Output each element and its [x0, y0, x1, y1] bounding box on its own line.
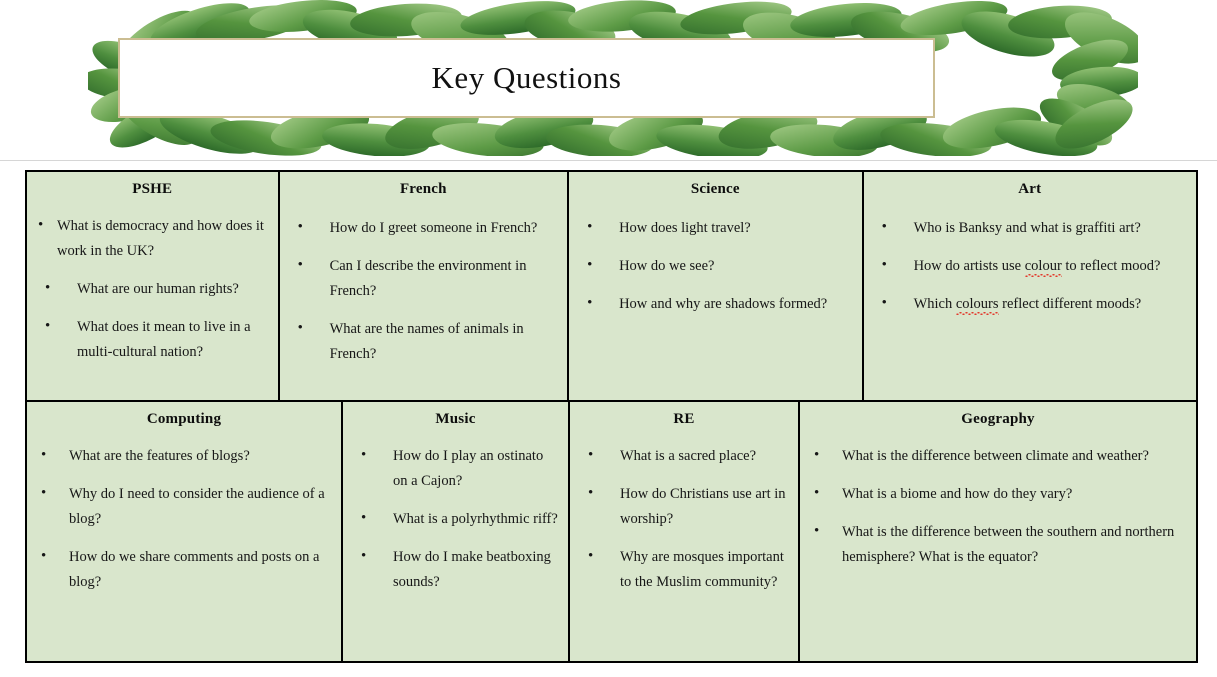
question-item: How do artists use colour to reflect moo… — [864, 254, 1196, 279]
question-list: How does light travel? How do we see? Ho… — [569, 216, 862, 317]
subject-cell-re: RE What is a sacred place? How do Christ… — [568, 400, 800, 663]
question-item: Why do I need to consider the audience o… — [27, 482, 341, 532]
question-list: Who is Banksy and what is graffiti art? … — [864, 216, 1196, 317]
question-text-segment: to reflect mood? — [1062, 258, 1161, 274]
question-list: How do I greet someone in French? Can I … — [280, 216, 568, 367]
question-item: Why are mosques important to the Muslim … — [570, 545, 798, 595]
page-header-banner: Key Questions — [0, 0, 1217, 160]
subject-heading: RE — [570, 402, 798, 428]
question-item: How do I greet someone in French? — [280, 216, 568, 241]
subject-cell-computing: Computing What are the features of blogs… — [25, 400, 343, 663]
subject-cell-french: French How do I greet someone in French?… — [278, 170, 570, 402]
question-item: What does it mean to live in a multi-cul… — [27, 315, 278, 365]
question-item: What is a biome and how do they vary? — [800, 482, 1196, 507]
question-item: How do Christians use art in worship? — [570, 482, 798, 532]
question-item: Can I describe the environment in French… — [280, 254, 568, 304]
key-questions-table: PSHE What is democracy and how does it w… — [25, 170, 1198, 663]
question-item: What is the difference between the south… — [800, 520, 1196, 570]
subject-heading: Science — [569, 172, 862, 198]
question-list: What is democracy and how does it work i… — [27, 214, 278, 365]
table-row: Computing What are the features of blogs… — [25, 402, 1198, 663]
question-item: Who is Banksy and what is graffiti art? — [864, 216, 1196, 241]
question-list: What is a sacred place? How do Christian… — [570, 444, 798, 595]
subject-cell-geography: Geography What is the difference between… — [798, 400, 1198, 663]
question-item: What is a polyrhythmic riff? — [343, 507, 568, 532]
question-item: What is democracy and how does it work i… — [27, 214, 278, 264]
question-item: What are our human rights? — [27, 277, 278, 302]
question-item: How do I make beatboxing sounds? — [343, 545, 568, 595]
subject-cell-science: Science How does light travel? How do we… — [567, 170, 864, 402]
subject-cell-music: Music How do I play an ostinato on a Caj… — [341, 400, 570, 663]
question-text-segment: Which — [914, 296, 956, 312]
question-list: How do I play an ostinato on a Cajon? Wh… — [343, 444, 568, 595]
header-divider — [0, 160, 1217, 161]
question-item: What are the features of blogs? — [27, 444, 341, 469]
question-item: How do we see? — [569, 254, 862, 279]
subject-heading: French — [280, 172, 568, 198]
subject-cell-art: Art Who is Banksy and what is graffiti a… — [862, 170, 1198, 402]
subject-heading: Art — [864, 172, 1196, 198]
question-item: How do I play an ostinato on a Cajon? — [343, 444, 568, 494]
misspelled-word: colour — [1025, 258, 1062, 274]
subject-cell-pshe: PSHE What is democracy and how does it w… — [25, 170, 280, 402]
question-text-segment: How do artists use — [914, 258, 1025, 274]
subject-heading: Music — [343, 402, 568, 428]
subject-heading: PSHE — [27, 172, 278, 198]
question-text-segment: reflect different moods? — [999, 296, 1142, 312]
subject-heading: Geography — [800, 402, 1196, 428]
question-item: What are the names of animals in French? — [280, 317, 568, 367]
page-title: Key Questions — [432, 60, 622, 96]
misspelled-word: colours — [956, 296, 999, 312]
question-list: What is the difference between climate a… — [800, 444, 1196, 570]
question-item: How does light travel? — [569, 216, 862, 241]
question-item: What is the difference between climate a… — [800, 444, 1196, 469]
question-list: What are the features of blogs? Why do I… — [27, 444, 341, 595]
question-item: How and why are shadows formed? — [569, 292, 862, 317]
subject-heading: Computing — [27, 402, 341, 428]
question-item: What is a sacred place? — [570, 444, 798, 469]
question-item: Which colours reflect different moods? — [864, 292, 1196, 317]
question-item: How do we share comments and posts on a … — [27, 545, 341, 595]
table-row: PSHE What is democracy and how does it w… — [25, 170, 1198, 402]
title-frame: Key Questions — [118, 38, 935, 118]
